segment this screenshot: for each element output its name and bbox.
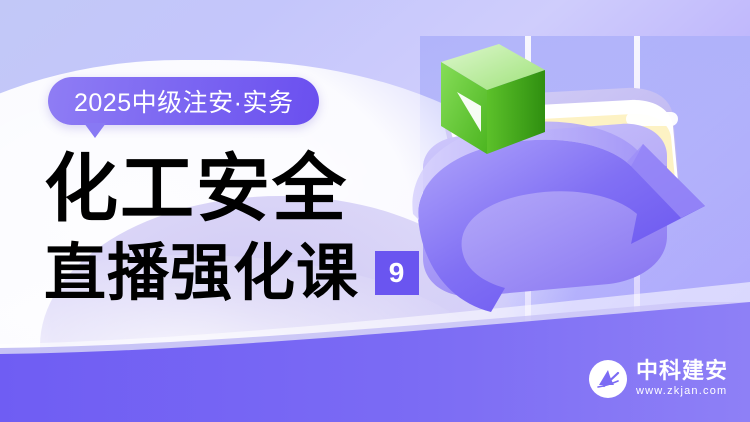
logo-website-url: www.zkjan.com [636, 384, 728, 398]
headline-line-1: 化工安全 [44, 152, 419, 226]
course-badge: 2025中级注安·实务 [48, 77, 319, 125]
episode-number-badge: 9 [375, 251, 419, 295]
course-banner: 2025中级注安·实务 化工安全 直播强化课 9 中科建安 www.zkjan.… [0, 0, 750, 422]
logo-company-name: 中科建安 [636, 360, 728, 383]
badge-label: 2025中级注安·实务 [74, 83, 293, 119]
headline-line-2-text: 直播强化课 [44, 242, 359, 304]
document-tab [626, 112, 678, 126]
zkjan-monogram-icon [589, 360, 627, 398]
illustration-folder-arrow-cube [395, 0, 750, 360]
headline-line-1-text: 化工安全 [44, 146, 348, 232]
headline-line-2: 直播强化课 9 [44, 242, 419, 304]
badge-tail [84, 123, 106, 138]
badge-pill: 2025中级注安·实务 [48, 77, 319, 125]
headline-block: 化工安全 直播强化课 9 [44, 152, 419, 304]
logo-text-block: 中科建安 www.zkjan.com [636, 360, 728, 398]
brand-logo: 中科建安 www.zkjan.com [589, 360, 728, 398]
